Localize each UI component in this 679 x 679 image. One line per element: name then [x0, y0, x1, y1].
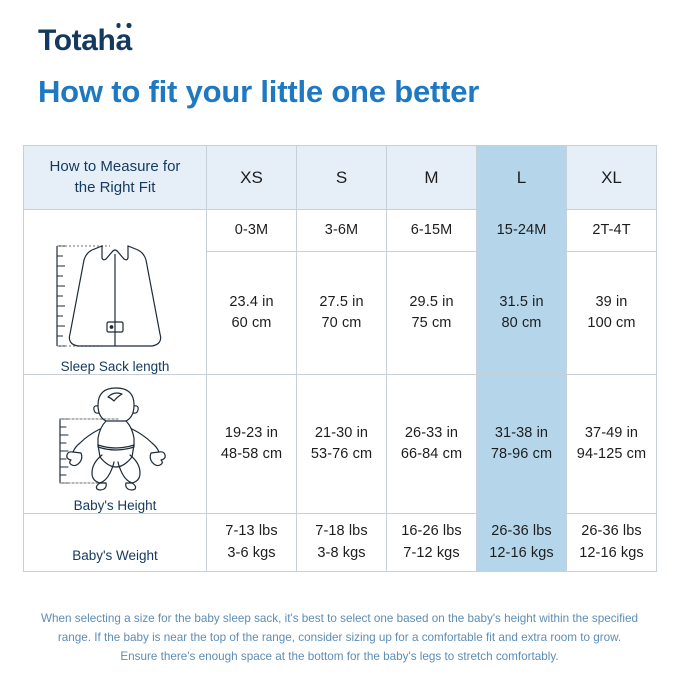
- baby-illustration-cell: Baby's Height: [24, 375, 207, 514]
- length-value-xs: 23.4 in 60 cm: [207, 252, 297, 375]
- height-cm-s: 53-76 cm: [297, 444, 386, 465]
- brand-umlaut-letter: a: [115, 26, 131, 56]
- height-value-xl: 37-49 in 94-125 cm: [567, 375, 657, 514]
- length-in-s: 27.5 in: [297, 292, 386, 313]
- height-value-m: 26-33 in 66-84 cm: [387, 375, 477, 514]
- weight-lbs-s: 7-18 lbs: [297, 521, 386, 542]
- weight-value-l: 26-36 lbs 12-16 kgs: [477, 514, 567, 572]
- weight-value-xl: 26-36 lbs 12-16 kgs: [567, 514, 657, 572]
- table-header-row: How to Measure for the Right Fit XS S M …: [24, 146, 657, 210]
- brand-logo: Totaha: [38, 26, 132, 56]
- baby-icon: [40, 383, 190, 495]
- length-cm-m: 75 cm: [387, 313, 476, 334]
- length-value-m: 29.5 in 75 cm: [387, 252, 477, 375]
- height-in-xs: 19-23 in: [207, 423, 296, 444]
- length-cm-l: 80 cm: [477, 313, 566, 334]
- weight-lbs-xl: 26-36 lbs: [567, 521, 656, 542]
- height-cm-xs: 48-58 cm: [207, 444, 296, 465]
- row-label-sleep-sack-length: Sleep Sack length: [61, 359, 170, 374]
- height-value-l: 31-38 in 78-96 cm: [477, 375, 567, 514]
- height-in-l: 31-38 in: [477, 423, 566, 444]
- height-cm-m: 66-84 cm: [387, 444, 476, 465]
- length-cm-s: 70 cm: [297, 313, 386, 334]
- length-cm-xl: 100 cm: [567, 313, 656, 334]
- size-header-s[interactable]: S: [297, 146, 387, 210]
- length-in-m: 29.5 in: [387, 292, 476, 313]
- size-header-xs[interactable]: XS: [207, 146, 297, 210]
- row-label-baby-weight-cell: Baby's Weight: [24, 514, 207, 572]
- weight-value-m: 16-26 lbs 7-12 kgs: [387, 514, 477, 572]
- size-header-xl[interactable]: XL: [567, 146, 657, 210]
- measure-header-line1: How to Measure for: [24, 157, 206, 177]
- sleep-sack-illustration-cell: Sleep Sack length: [24, 210, 207, 375]
- length-in-l: 31.5 in: [477, 292, 566, 313]
- measure-header-cell: How to Measure for the Right Fit: [24, 146, 207, 210]
- sleep-sack-icon: [40, 234, 190, 356]
- length-cm-xs: 60 cm: [207, 313, 296, 334]
- weight-value-s: 7-18 lbs 3-8 kgs: [297, 514, 387, 572]
- length-value-l: 31.5 in 80 cm: [477, 252, 567, 375]
- footnote: When selecting a size for the baby sleep…: [23, 610, 656, 667]
- weight-value-xs: 7-13 lbs 3-6 kgs: [207, 514, 297, 572]
- length-in-xs: 23.4 in: [207, 292, 296, 313]
- weight-kgs-xs: 3-6 kgs: [207, 543, 296, 564]
- age-value-l: 15-24M: [477, 210, 567, 252]
- length-value-s: 27.5 in 70 cm: [297, 252, 387, 375]
- weight-kgs-s: 3-8 kgs: [297, 543, 386, 564]
- brand-name-main: Totah: [38, 24, 115, 57]
- weight-kgs-m: 7-12 kgs: [387, 543, 476, 564]
- size-header-l[interactable]: L: [477, 146, 567, 210]
- age-value-xs: 0-3M: [207, 210, 297, 252]
- table-row-baby-height: Baby's Height 19-23 in 48-58 cm 21-30 in…: [24, 375, 657, 514]
- footnote-line-1: When selecting a size for the baby sleep…: [23, 610, 656, 629]
- weight-lbs-l: 26-36 lbs: [477, 521, 566, 542]
- height-cm-xl: 94-125 cm: [567, 444, 656, 465]
- size-header-m[interactable]: M: [387, 146, 477, 210]
- height-value-s: 21-30 in 53-76 cm: [297, 375, 387, 514]
- height-in-m: 26-33 in: [387, 423, 476, 444]
- length-in-xl: 39 in: [567, 292, 656, 313]
- weight-lbs-xs: 7-13 lbs: [207, 521, 296, 542]
- height-in-xl: 37-49 in: [567, 423, 656, 444]
- weight-kgs-xl: 12-16 kgs: [567, 543, 656, 564]
- brand-name-accent: a: [115, 24, 131, 57]
- height-cm-l: 78-96 cm: [477, 444, 566, 465]
- age-value-xl: 2T-4T: [567, 210, 657, 252]
- size-guide-page: Totaha How to fit your little one better…: [0, 0, 679, 679]
- row-label-baby-weight: Baby's Weight: [24, 548, 206, 563]
- size-chart-table: How to Measure for the Right Fit XS S M …: [23, 145, 657, 572]
- age-value-m: 6-15M: [387, 210, 477, 252]
- page-title: How to fit your little one better: [38, 74, 479, 110]
- age-value-s: 3-6M: [297, 210, 387, 252]
- weight-lbs-m: 16-26 lbs: [387, 521, 476, 542]
- weight-kgs-l: 12-16 kgs: [477, 543, 566, 564]
- height-in-s: 21-30 in: [297, 423, 386, 444]
- measure-header-line2: the Right Fit: [24, 178, 206, 198]
- height-value-xs: 19-23 in 48-58 cm: [207, 375, 297, 514]
- length-value-xl: 39 in 100 cm: [567, 252, 657, 375]
- umlaut-icon: [116, 23, 131, 28]
- table-row-baby-weight: Baby's Weight 7-13 lbs 3-6 kgs 7-18 lbs …: [24, 514, 657, 572]
- table-row-age: Sleep Sack length 0-3M 3-6M 6-15M 15-24M…: [24, 210, 657, 252]
- footnote-line-2: range. If the baby is near the top of th…: [23, 629, 656, 648]
- row-label-baby-height: Baby's Height: [74, 498, 157, 513]
- footnote-line-3: Ensure there's enough space at the botto…: [23, 648, 656, 667]
